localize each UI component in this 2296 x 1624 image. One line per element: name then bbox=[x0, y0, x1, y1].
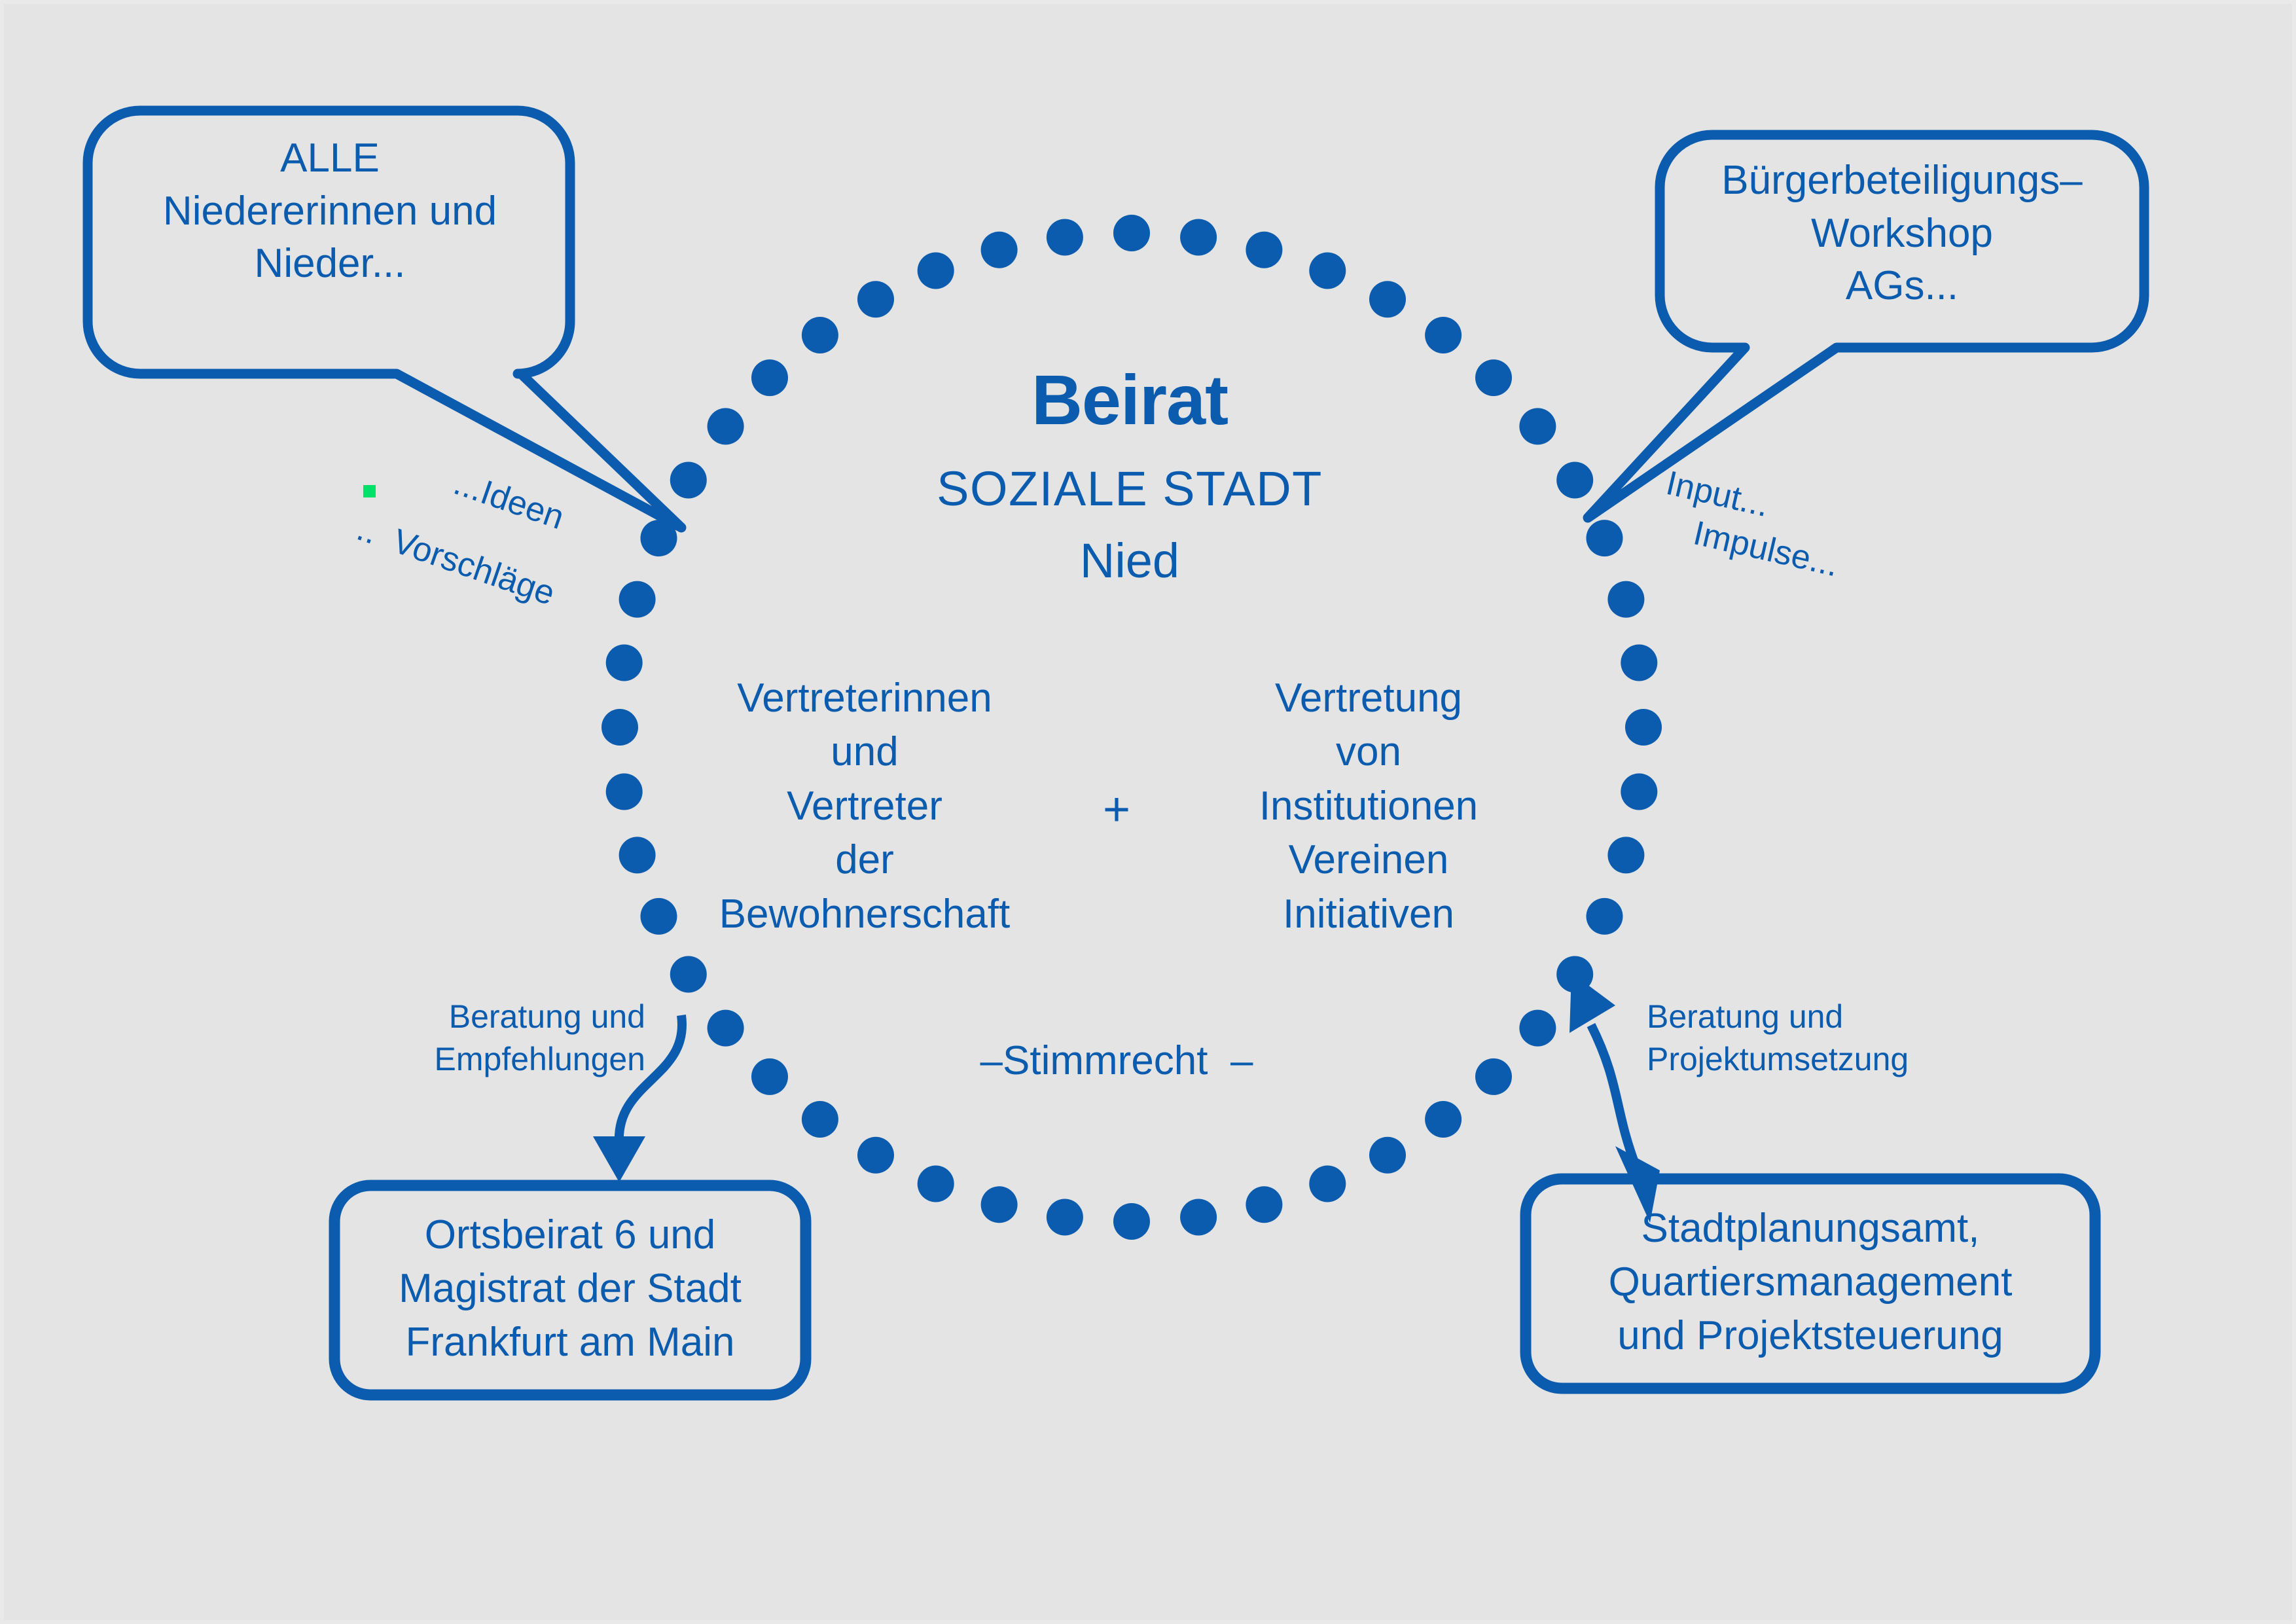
ring-dot bbox=[1246, 1186, 1282, 1223]
speech-bubble-top-left-text: ALLE Niedererinnen und Nieder... bbox=[88, 132, 572, 291]
ring-dot bbox=[670, 462, 707, 499]
ring-dot bbox=[1625, 709, 1662, 746]
ring-dot bbox=[641, 898, 677, 935]
speech-bubble-top-right-text: Bürgerbeteiligungs– Workshop AGs... bbox=[1660, 154, 2144, 313]
ring-dot bbox=[1621, 645, 1657, 681]
ring-dot bbox=[857, 281, 894, 317]
ring-dot bbox=[1425, 1101, 1462, 1138]
ring-dot bbox=[981, 232, 1018, 268]
green-dot-marker-icon bbox=[363, 485, 376, 497]
ring-dot bbox=[1519, 1010, 1556, 1047]
box-stadtplanungsamt-text: Stadtplanungsamt, Quartiersmanagement un… bbox=[1529, 1202, 2092, 1362]
ring-dot bbox=[1180, 1199, 1217, 1236]
ring-dot bbox=[1113, 215, 1150, 251]
ring-dot bbox=[1556, 462, 1593, 499]
ring-dot bbox=[670, 956, 707, 993]
ring-dot bbox=[1246, 232, 1282, 268]
ring-dot bbox=[751, 1058, 788, 1095]
ring-dot bbox=[1587, 520, 1623, 556]
ring-dot bbox=[1607, 837, 1644, 873]
ring-dot bbox=[918, 253, 954, 289]
annotation-beratung-projektumsetzung: Beratung und Projektumsetzung bbox=[1647, 996, 1987, 1081]
ring-dot bbox=[708, 408, 744, 444]
center-title: Beirat bbox=[796, 361, 1463, 440]
ring-dot bbox=[918, 1166, 954, 1202]
ring-dot bbox=[619, 837, 656, 873]
ring-dot bbox=[1587, 898, 1623, 935]
center-column-right: Vertretung von Institutionen Vereinen In… bbox=[1218, 672, 1519, 941]
center-subtitle-line1: SOZIALE STADT bbox=[796, 462, 1463, 516]
ring-dot bbox=[708, 1010, 744, 1047]
ring-dot bbox=[1621, 774, 1657, 810]
ring-dot bbox=[1113, 1203, 1150, 1240]
annotation-beratung-empfehlungen: Beratung und Empfehlungen bbox=[370, 996, 645, 1081]
ring-dot bbox=[1309, 1166, 1346, 1202]
ring-dot bbox=[606, 774, 643, 810]
ring-dot bbox=[1607, 581, 1644, 618]
ring-dot bbox=[601, 709, 638, 746]
diagram-canvas: ALLE Niedererinnen und Nieder... Bürgerb… bbox=[0, 0, 2296, 1624]
ring-dot bbox=[751, 359, 788, 396]
ring-dot bbox=[802, 317, 838, 353]
ring-dot bbox=[1047, 219, 1083, 256]
ring-dot bbox=[619, 581, 656, 618]
ring-dot bbox=[981, 1186, 1018, 1223]
ring-dot bbox=[1475, 1058, 1512, 1095]
ring-dot bbox=[1425, 317, 1462, 353]
plus-symbol: + bbox=[1077, 783, 1156, 837]
ring-dot bbox=[802, 1101, 838, 1138]
center-subtitle-line2: Nied bbox=[796, 534, 1463, 588]
ring-dot bbox=[1309, 253, 1346, 289]
ring-dot bbox=[606, 645, 643, 681]
stimmrecht-footnote: –Stimmrecht – bbox=[907, 1038, 1326, 1083]
box-ortsbeirat-text: Ortsbeirat 6 und Magistrat der Stadt Fra… bbox=[338, 1208, 802, 1369]
ring-dot bbox=[1519, 408, 1556, 444]
ring-dot bbox=[857, 1137, 894, 1174]
ring-dot bbox=[1369, 1137, 1406, 1174]
ring-dot bbox=[1369, 281, 1406, 317]
center-column-left: Vertreterinnen und Vertreter der Bewohne… bbox=[688, 672, 1041, 941]
ring-dot bbox=[1047, 1199, 1083, 1236]
ring-dot bbox=[1475, 359, 1512, 396]
ring-dot bbox=[1180, 219, 1217, 256]
